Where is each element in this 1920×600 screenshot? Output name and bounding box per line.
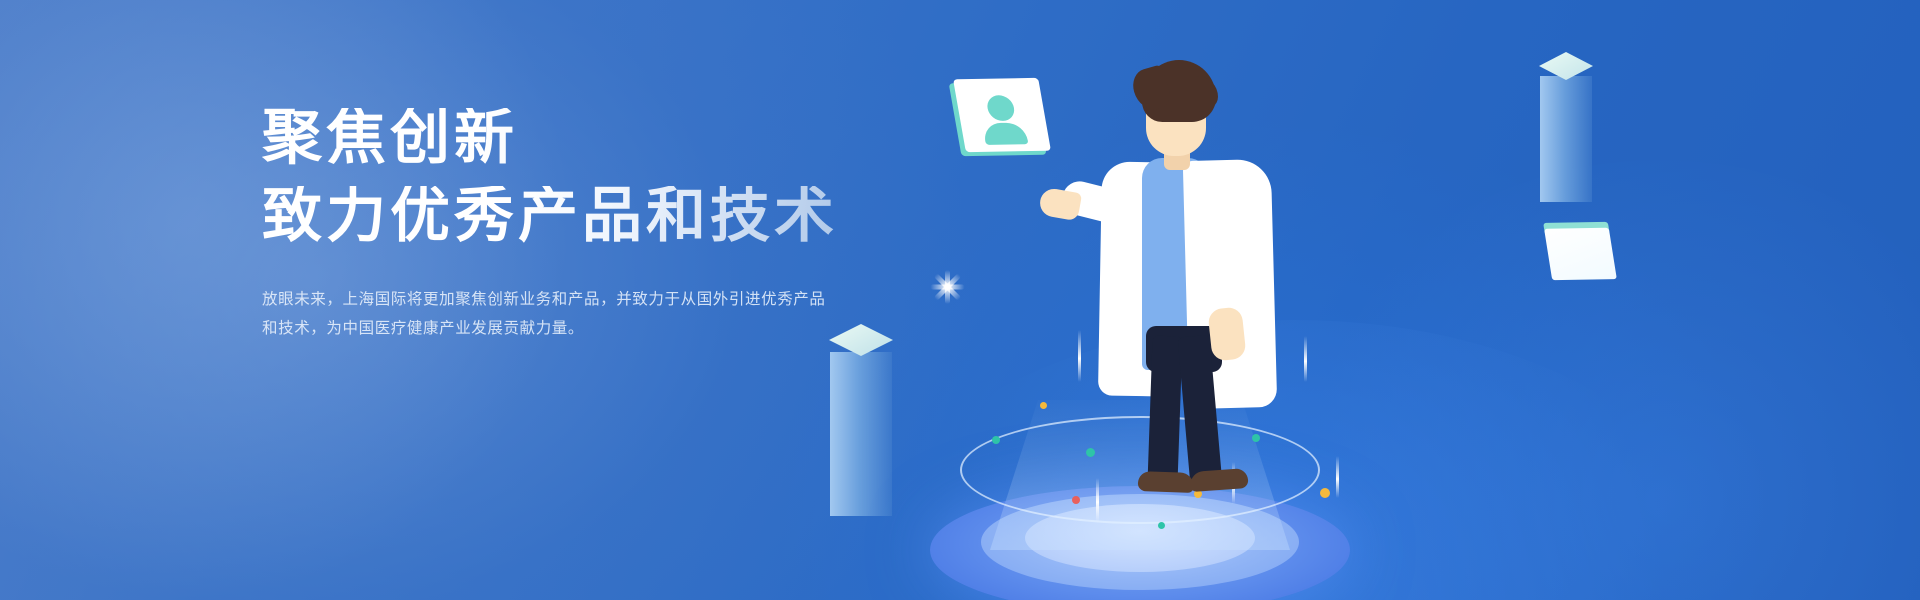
accent-dot: [1158, 522, 1165, 529]
user-profile-card-icon: [953, 78, 1051, 152]
illustration: [900, 0, 1920, 600]
shoe-left: [1138, 471, 1195, 493]
subtitle-line-2: 和技术，为中国医疗健康产业发展贡献力量。: [262, 315, 862, 344]
cube-pane: [1544, 228, 1617, 280]
iso-cube-panel: [1543, 222, 1617, 280]
sparkle-icon: [912, 252, 982, 322]
doctor-figure: [1050, 58, 1340, 478]
accent-dot: [1320, 488, 1330, 498]
accent-dot: [992, 436, 1000, 444]
headline-line-2: 致力优秀产品和技术: [262, 186, 902, 246]
accent-dot: [1040, 402, 1047, 409]
iso-bar-body: [830, 352, 892, 516]
avatar-head-icon: [985, 95, 1016, 121]
hand-right: [1207, 306, 1246, 361]
iso-bar-short: [830, 336, 892, 516]
avatar-body-icon: [982, 123, 1028, 145]
card-face: [953, 78, 1051, 152]
iso-bar-tall: [1540, 62, 1592, 202]
headline-line-1: 聚焦创新: [262, 108, 902, 168]
banner-subtitle: 放眼未来，上海国际将更加聚焦创新业务和产品，并致力于从国外引进优秀产品 和技术，…: [262, 286, 862, 343]
light-streak: [1096, 478, 1099, 522]
accent-dot: [1072, 496, 1080, 504]
banner-copy: 聚焦创新 致力优秀产品和技术 放眼未来，上海国际将更加聚焦创新业务和产品，并致力…: [262, 108, 902, 343]
leg-left: [1147, 336, 1182, 487]
shoe-right: [1189, 468, 1248, 492]
hero-banner: 聚焦创新 致力优秀产品和技术 放眼未来，上海国际将更加聚焦创新业务和产品，并致力…: [0, 0, 1920, 600]
iso-bar-body: [1540, 76, 1592, 202]
hand-left-pointing: [1038, 187, 1082, 222]
hair-fringe: [1170, 76, 1218, 112]
subtitle-line-1: 放眼未来，上海国际将更加聚焦创新业务和产品，并致力于从国外引进优秀产品: [262, 286, 862, 315]
